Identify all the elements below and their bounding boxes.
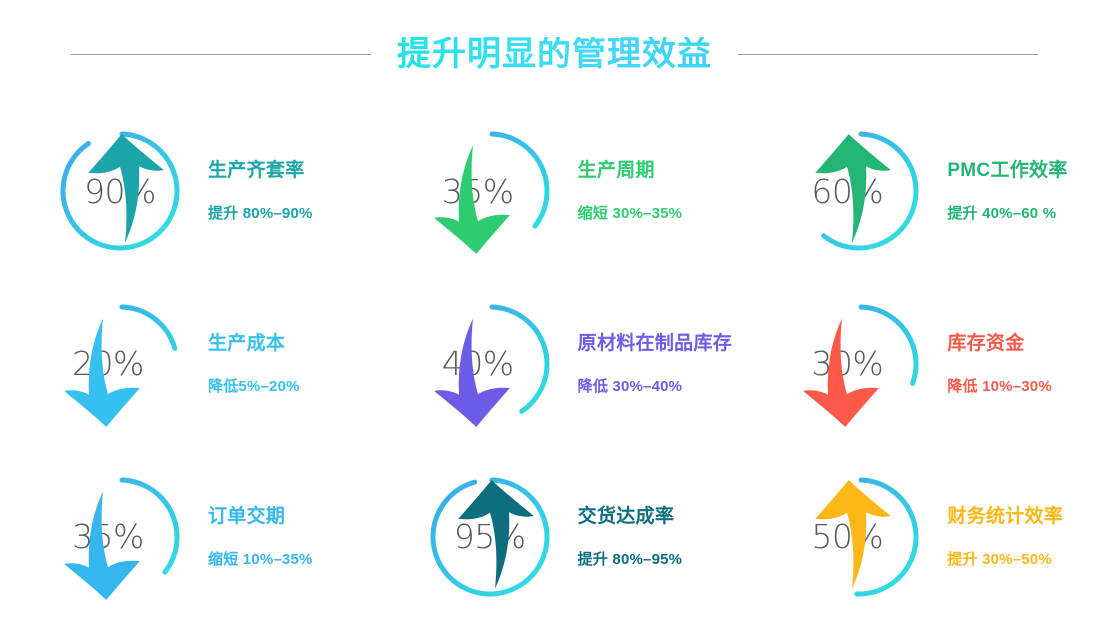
progress-ring-production-cycle: 35%: [428, 129, 552, 253]
metric-subtext: 提升 30%–50%: [947, 552, 1063, 567]
metric-subtext: 提升 40%–60 %: [947, 206, 1067, 221]
metric-card-production-kitting-rate[interactable]: 90%生产齐套率提升 80%–90%: [0, 105, 370, 278]
metric-subtext: 提升 80%–90%: [208, 206, 313, 221]
metric-text: PMC工作效率提升 40%–60 %: [947, 161, 1067, 221]
metric-label: 库存资金: [947, 334, 1052, 353]
metric-card-pmc-work-efficiency[interactable]: 60%PMC工作效率提升 40%–60 %: [739, 105, 1109, 278]
page-header: 提升明显的管理效益: [0, 0, 1109, 108]
metric-text: 生产成本降低5%–20%: [208, 334, 300, 394]
metric-subtext: 降低 30%–40%: [578, 379, 732, 394]
arrow-up-swoosh-icon: [58, 132, 182, 256]
ring-center: 50%: [785, 475, 909, 599]
arrow-up-swoosh-icon: [428, 478, 552, 602]
progress-ring-inventory-capital: 30%: [797, 302, 921, 426]
ring-center: 60%: [785, 129, 909, 253]
progress-ring-production-kitting-rate: 90%: [58, 129, 182, 253]
ring-center: 35%: [46, 475, 170, 599]
arrow-up-swoosh-icon: [785, 478, 909, 602]
arrow-down-swoosh-icon: [785, 305, 909, 429]
progress-ring-order-lead-time: 35%: [58, 475, 182, 599]
metrics-grid: 90%生产齐套率提升 80%–90%35%生产周期缩短 30%–35%60%PM…: [0, 105, 1109, 623]
arrow-up-swoosh-icon: [785, 132, 909, 256]
metric-card-raw-material-wip-inventory[interactable]: 40%原材料在制品库存降低 30%–40%: [370, 278, 740, 451]
ring-center: 95%: [428, 475, 552, 599]
metric-label: 生产齐套率: [208, 161, 313, 180]
progress-ring-production-cost: 20%: [58, 302, 182, 426]
progress-ring-finance-statistics-efficiency: 50%: [797, 475, 921, 599]
metric-label: PMC工作效率: [947, 161, 1067, 180]
ring-center: 30%: [785, 302, 909, 426]
metric-subtext: 提升 80%–95%: [578, 552, 683, 567]
metric-text: 财务统计效率提升 30%–50%: [947, 507, 1063, 567]
metric-card-production-cycle[interactable]: 35%生产周期缩短 30%–35%: [370, 105, 740, 278]
ring-center: 40%: [416, 302, 540, 426]
progress-ring-raw-material-wip-inventory: 40%: [428, 302, 552, 426]
metric-text: 库存资金降低 10%–30%: [947, 334, 1052, 394]
metric-card-production-cost[interactable]: 20%生产成本降低5%–20%: [0, 278, 370, 451]
metric-text: 订单交期缩短 10%–35%: [208, 507, 313, 567]
metric-label: 生产周期: [578, 161, 683, 180]
metric-text: 交货达成率提升 80%–95%: [578, 507, 683, 567]
metric-card-finance-statistics-efficiency[interactable]: 50%财务统计效率提升 30%–50%: [739, 450, 1109, 623]
metric-text: 生产周期缩短 30%–35%: [578, 161, 683, 221]
arrow-down-swoosh-icon: [46, 305, 170, 429]
title-rule-left: [71, 54, 371, 55]
metric-label: 原材料在制品库存: [578, 334, 732, 353]
arrow-down-swoosh-icon: [46, 478, 170, 602]
ring-center: 35%: [416, 129, 540, 253]
metric-text: 生产齐套率提升 80%–90%: [208, 161, 313, 221]
metric-label: 生产成本: [208, 334, 300, 353]
metric-subtext: 降低5%–20%: [208, 379, 300, 394]
metric-label: 订单交期: [208, 507, 313, 526]
progress-ring-pmc-work-efficiency: 60%: [797, 129, 921, 253]
arrow-down-swoosh-icon: [416, 305, 540, 429]
metric-subtext: 降低 10%–30%: [947, 379, 1052, 394]
metric-card-inventory-capital[interactable]: 30%库存资金降低 10%–30%: [739, 278, 1109, 451]
metric-subtext: 缩短 30%–35%: [578, 206, 683, 221]
metric-card-delivery-achievement-rate[interactable]: 95%交货达成率提升 80%–95%: [370, 450, 740, 623]
ring-center: 20%: [46, 302, 170, 426]
ring-center: 90%: [58, 129, 182, 253]
metric-label: 交货达成率: [578, 507, 683, 526]
title-rule-right: [738, 54, 1038, 55]
metric-label: 财务统计效率: [947, 507, 1063, 526]
metric-text: 原材料在制品库存降低 30%–40%: [578, 334, 732, 394]
metric-subtext: 缩短 10%–35%: [208, 552, 313, 567]
page-title: 提升明显的管理效益: [397, 37, 712, 71]
metric-card-order-lead-time[interactable]: 35%订单交期缩短 10%–35%: [0, 450, 370, 623]
arrow-down-swoosh-icon: [416, 132, 540, 256]
progress-ring-delivery-achievement-rate: 95%: [428, 475, 552, 599]
